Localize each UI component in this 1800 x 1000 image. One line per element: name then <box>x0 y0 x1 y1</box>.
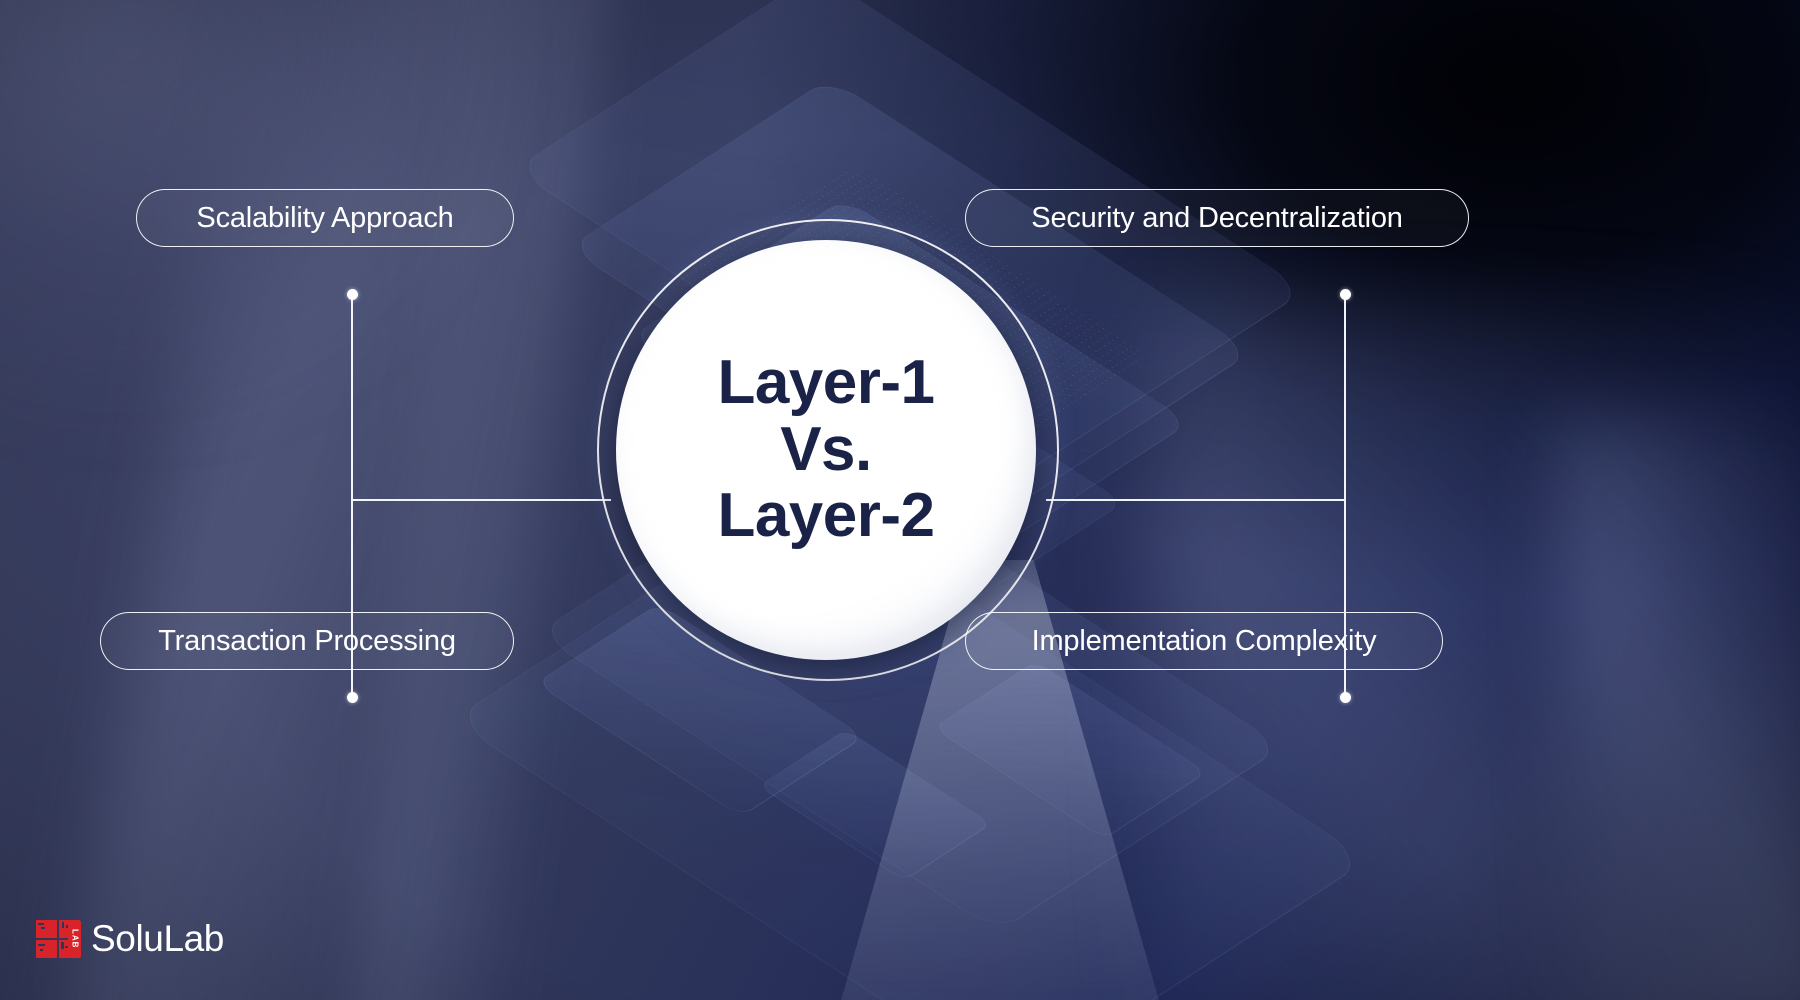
branch-pill-scalability-approach[interactable]: Scalability Approach <box>136 189 514 247</box>
logo-glyph-s <box>36 920 57 938</box>
branch-label-scalability-approach: Scalability Approach <box>196 202 453 235</box>
connector-horizontal-right <box>1046 499 1346 501</box>
branch-pill-transaction-processing[interactable]: Transaction Processing <box>100 612 514 670</box>
solulab-logo[interactable]: LAB SoluLab <box>36 918 224 960</box>
light-ray-right-edge <box>1560 420 1800 1000</box>
logo-glyph-l <box>36 940 57 958</box>
branch-pill-implementation-complexity[interactable]: Implementation Complexity <box>965 612 1443 670</box>
solulab-wordmark: SoluLab <box>91 918 224 960</box>
branch-pill-security-and-decentralization[interactable]: Security and Decentralization <box>965 189 1469 247</box>
center-title: Layer-1 Vs. Layer-2 <box>697 350 954 551</box>
connector-node-right-top <box>1340 289 1351 300</box>
infographic-canvas: Layer-1 Vs. Layer-2 Scalability Approach… <box>0 0 1800 1000</box>
connector-node-left-bottom <box>347 692 358 703</box>
logo-mark-lab-label: LAB <box>68 921 81 957</box>
connector-horizontal-left <box>351 499 611 501</box>
branch-label-transaction-processing: Transaction Processing <box>158 625 456 658</box>
center-circle: Layer-1 Vs. Layer-2 <box>616 240 1036 660</box>
branch-label-security-and-decentralization: Security and Decentralization <box>1031 202 1402 235</box>
branch-label-implementation-complexity: Implementation Complexity <box>1032 625 1377 658</box>
connector-node-right-bottom <box>1340 692 1351 703</box>
connector-node-left-top <box>347 289 358 300</box>
solulab-logo-mark-icon: LAB <box>36 920 80 958</box>
